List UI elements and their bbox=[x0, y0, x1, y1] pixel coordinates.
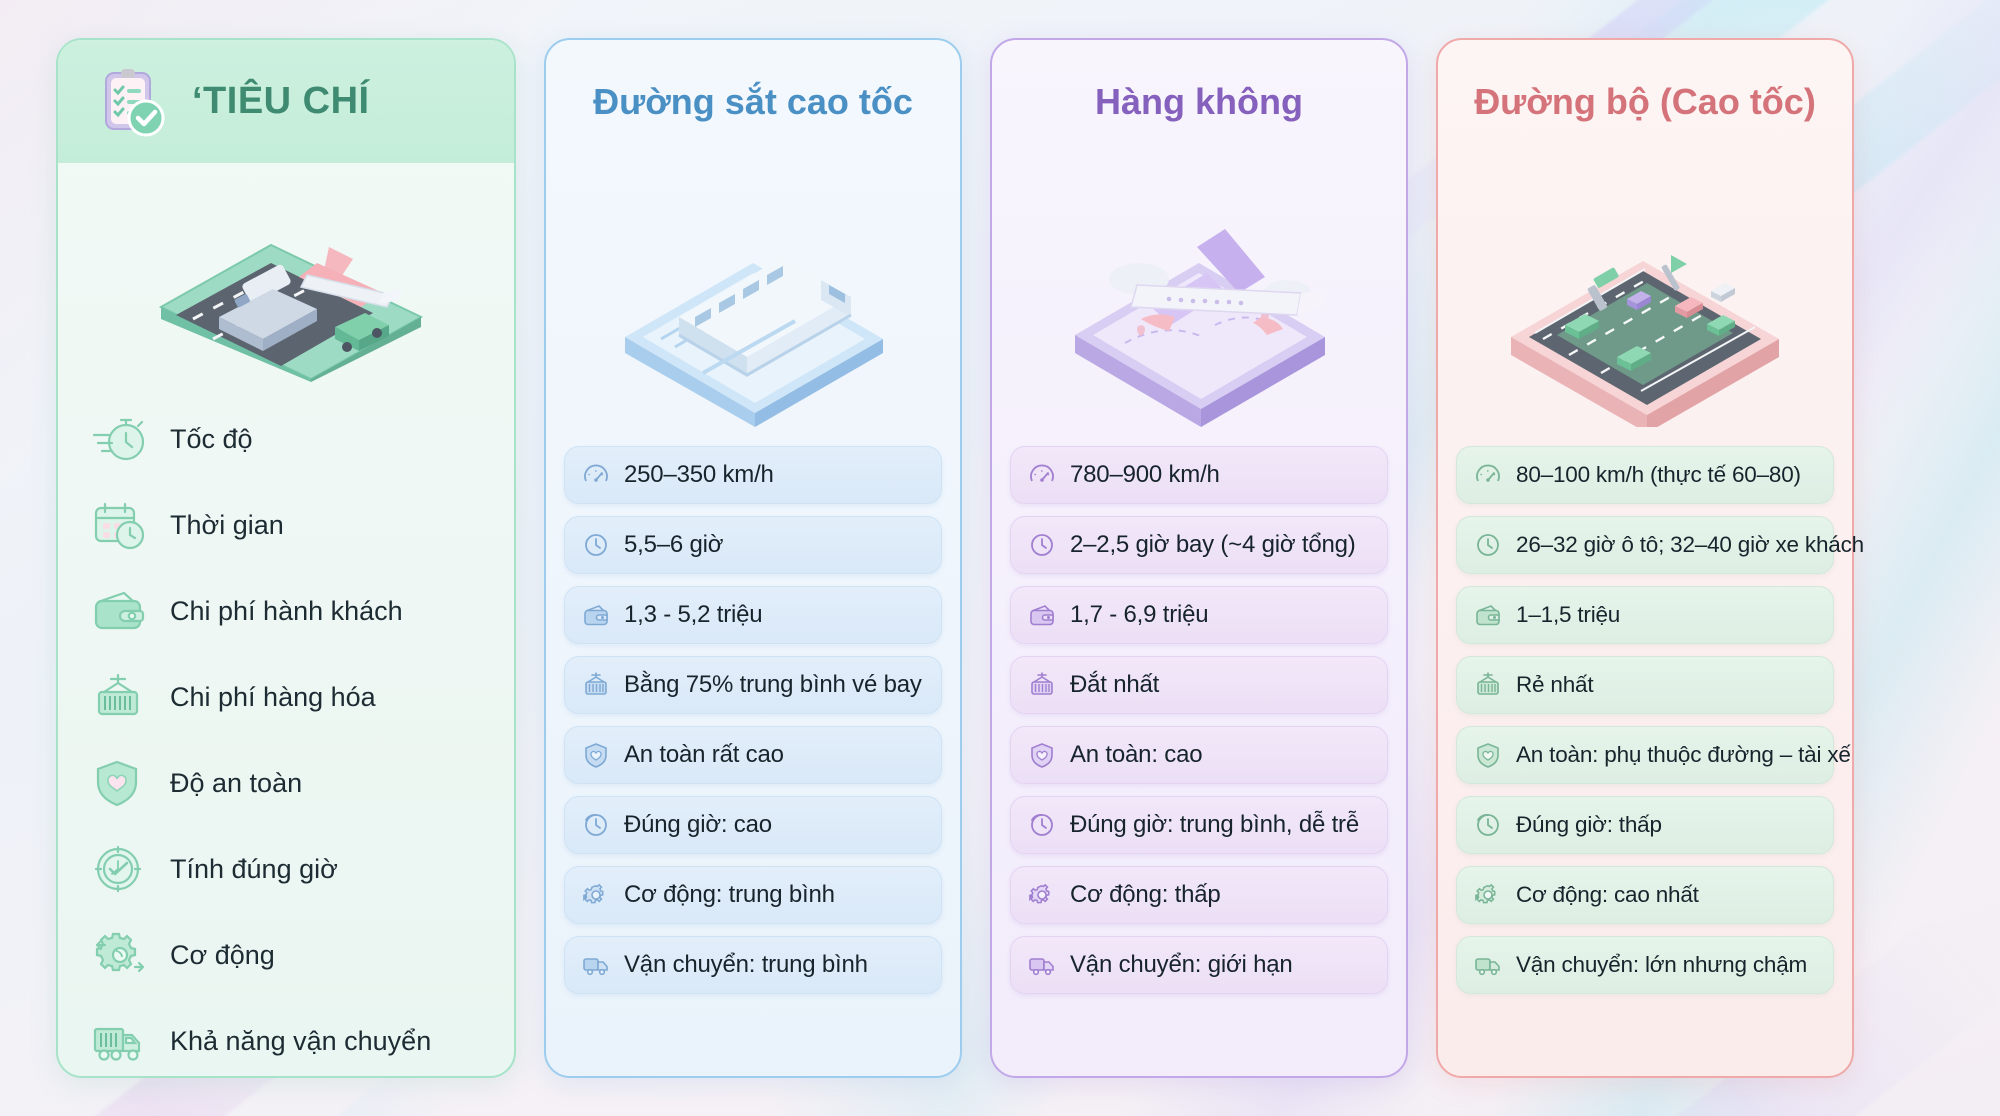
data-row-freight-cost[interactable]: Đắt nhất bbox=[1010, 656, 1388, 714]
data-row-text: An toàn: phụ thuộc đường – tài xế bbox=[1516, 742, 1851, 768]
criteria-item-7[interactable]: Khả năng vận chuyển bbox=[92, 1006, 514, 1076]
data-row-time[interactable]: 5,5–6 giờ bbox=[564, 516, 942, 574]
column-card-air: Hàng không bbox=[990, 38, 1408, 1078]
data-row-text: Đắt nhất bbox=[1070, 671, 1159, 699]
data-row-text: 780–900 km/h bbox=[1070, 461, 1220, 489]
criteria-card: ‘TIÊU CHÍ bbox=[56, 38, 516, 1078]
data-row-capacity[interactable]: Vận chuyển: trung bình bbox=[564, 936, 942, 994]
criteria-hero-illustration bbox=[58, 163, 514, 382]
container-icon bbox=[1027, 670, 1057, 700]
data-list-road: 80–100 km/h (thực tế 60–80) 26–32 giờ ô … bbox=[1438, 442, 1852, 994]
data-row-text: Đúng giờ: cao bbox=[624, 811, 772, 839]
shield-heart-icon bbox=[581, 740, 611, 770]
column-card-road: Đường bộ (Cao tốc) bbox=[1436, 38, 1854, 1078]
data-row-freight-cost[interactable]: Rẻ nhất bbox=[1456, 656, 1834, 714]
clock-icon bbox=[1027, 530, 1057, 560]
data-row-text: 250–350 km/h bbox=[624, 461, 774, 489]
data-row-text: An toàn rất cao bbox=[624, 741, 784, 769]
criteria-item-label: Tốc độ bbox=[170, 424, 253, 455]
clipboard-check-icon bbox=[92, 63, 170, 141]
data-row-text: Rẻ nhất bbox=[1516, 672, 1593, 698]
gear-icon bbox=[1473, 880, 1503, 910]
container-icon bbox=[1473, 670, 1503, 700]
wallet-icon bbox=[1027, 600, 1057, 630]
data-row-text: Cơ động: cao nhất bbox=[1516, 882, 1699, 908]
data-row-speed[interactable]: 80–100 km/h (thực tế 60–80) bbox=[1456, 446, 1834, 504]
clock-check-icon bbox=[581, 810, 611, 840]
column-title-road: Đường bộ (Cao tốc) bbox=[1438, 40, 1852, 152]
wallet-icon bbox=[1473, 600, 1503, 630]
stopwatch-icon bbox=[92, 413, 148, 465]
data-row-mobility[interactable]: Cơ động: cao nhất bbox=[1456, 866, 1834, 924]
criteria-item-5[interactable]: Tính đúng giờ bbox=[92, 834, 514, 904]
data-row-text: Vận chuyển: giới hạn bbox=[1070, 951, 1293, 979]
gear-arrows-icon bbox=[92, 929, 148, 981]
data-row-text: 5,5–6 giờ bbox=[624, 531, 723, 559]
data-row-punctuality[interactable]: Đúng giờ: thấp bbox=[1456, 796, 1834, 854]
data-list-rail: 250–350 km/h 5,5–6 giờ 1,3 - 5,2 triệu B… bbox=[546, 442, 960, 994]
comparison-board: ‘TIÊU CHÍ bbox=[0, 0, 2000, 1116]
criteria-item-6[interactable]: Cơ động bbox=[92, 920, 514, 990]
wallet-icon bbox=[581, 600, 611, 630]
truck-icon bbox=[581, 950, 611, 980]
data-row-text: Cơ động: thấp bbox=[1070, 881, 1221, 909]
shield-heart-icon bbox=[1473, 740, 1503, 770]
data-row-safety[interactable]: An toàn rất cao bbox=[564, 726, 942, 784]
data-row-text: 1–1,5 triệu bbox=[1516, 602, 1620, 628]
criteria-item-label: Chi phí hành khách bbox=[170, 596, 403, 627]
data-row-punctuality[interactable]: Đúng giờ: cao bbox=[564, 796, 942, 854]
shield-heart-icon bbox=[1027, 740, 1057, 770]
data-row-text: Bằng 75% trung bình vé bay bbox=[624, 671, 922, 699]
data-row-text: Đúng giờ: trung bình, dễ trễ bbox=[1070, 811, 1359, 839]
highway-illustration bbox=[1438, 152, 1852, 442]
data-list-air: 780–900 km/h 2–2,5 giờ bay (~4 giờ tổng)… bbox=[992, 442, 1406, 994]
clock-check-icon bbox=[92, 843, 148, 895]
data-row-text: 26–32 giờ ô tô; 32–40 giờ xe khách bbox=[1516, 532, 1864, 558]
criteria-item-0[interactable]: Tốc độ bbox=[92, 404, 514, 474]
data-row-speed[interactable]: 780–900 km/h bbox=[1010, 446, 1388, 504]
data-row-safety[interactable]: An toàn: phụ thuộc đường – tài xế bbox=[1456, 726, 1834, 784]
criteria-item-label: Độ an toàn bbox=[170, 768, 302, 799]
data-row-text: Đúng giờ: thấp bbox=[1516, 812, 1662, 838]
data-row-text: Vận chuyển: trung bình bbox=[624, 951, 868, 979]
truck-icon bbox=[92, 1015, 148, 1067]
data-row-passenger-cost[interactable]: 1,3 - 5,2 triệu bbox=[564, 586, 942, 644]
column-title-air: Hàng không bbox=[992, 40, 1406, 152]
column-card-rail: Đường sắt cao tốc bbox=[544, 38, 962, 1078]
speedometer-icon bbox=[581, 460, 611, 490]
data-row-safety[interactable]: An toàn: cao bbox=[1010, 726, 1388, 784]
container-icon bbox=[92, 671, 148, 723]
criteria-item-label: Cơ động bbox=[170, 940, 275, 971]
data-row-mobility[interactable]: Cơ động: trung bình bbox=[564, 866, 942, 924]
criteria-title: ‘TIÊU CHÍ bbox=[192, 80, 370, 123]
high-speed-train-illustration bbox=[546, 152, 960, 442]
airplane-illustration bbox=[992, 152, 1406, 442]
data-row-capacity[interactable]: Vận chuyển: lớn nhưng chậm bbox=[1456, 936, 1834, 994]
data-row-punctuality[interactable]: Đúng giờ: trung bình, dễ trễ bbox=[1010, 796, 1388, 854]
gear-icon bbox=[581, 880, 611, 910]
criteria-item-2[interactable]: Chi phí hành khách bbox=[92, 576, 514, 646]
data-row-text: Vận chuyển: lớn nhưng chậm bbox=[1516, 952, 1807, 978]
column-title-rail: Đường sắt cao tốc bbox=[546, 40, 960, 152]
data-row-mobility[interactable]: Cơ động: thấp bbox=[1010, 866, 1388, 924]
truck-icon bbox=[1473, 950, 1503, 980]
wallet-icon bbox=[92, 585, 148, 637]
speedometer-icon bbox=[1473, 460, 1503, 490]
criteria-list: Tốc độ Thời gian bbox=[58, 382, 514, 1076]
clock-icon bbox=[1473, 530, 1503, 560]
criteria-header: ‘TIÊU CHÍ bbox=[58, 40, 514, 163]
criteria-item-label: Tính đúng giờ bbox=[170, 854, 338, 885]
data-row-passenger-cost[interactable]: 1–1,5 triệu bbox=[1456, 586, 1834, 644]
criteria-item-label: Khả năng vận chuyển bbox=[170, 1026, 431, 1057]
data-row-freight-cost[interactable]: Bằng 75% trung bình vé bay bbox=[564, 656, 942, 714]
criteria-item-1[interactable]: Thời gian bbox=[92, 490, 514, 560]
criteria-item-3[interactable]: Chi phí hàng hóa bbox=[92, 662, 514, 732]
truck-icon bbox=[1027, 950, 1057, 980]
calendar-clock-icon bbox=[92, 499, 148, 551]
clock-icon bbox=[581, 530, 611, 560]
criteria-item-label: Thời gian bbox=[170, 510, 284, 541]
shield-heart-icon bbox=[92, 757, 148, 809]
data-row-speed[interactable]: 250–350 km/h bbox=[564, 446, 942, 504]
clock-check-icon bbox=[1473, 810, 1503, 840]
data-row-time[interactable]: 26–32 giờ ô tô; 32–40 giờ xe khách bbox=[1456, 516, 1834, 574]
data-row-text: 1,3 - 5,2 triệu bbox=[624, 601, 762, 629]
clock-check-icon bbox=[1027, 810, 1057, 840]
data-row-text: 1,7 - 6,9 triệu bbox=[1070, 601, 1208, 629]
criteria-item-label: Chi phí hàng hóa bbox=[170, 682, 376, 713]
speedometer-icon bbox=[1027, 460, 1057, 490]
data-row-capacity[interactable]: Vận chuyển: giới hạn bbox=[1010, 936, 1388, 994]
data-row-text: 80–100 km/h (thực tế 60–80) bbox=[1516, 462, 1801, 488]
data-row-passenger-cost[interactable]: 1,7 - 6,9 triệu bbox=[1010, 586, 1388, 644]
container-icon bbox=[581, 670, 611, 700]
gear-icon bbox=[1027, 880, 1057, 910]
data-row-text: An toàn: cao bbox=[1070, 741, 1202, 769]
data-row-text: 2–2,5 giờ bay (~4 giờ tổng) bbox=[1070, 531, 1356, 559]
data-row-text: Cơ động: trung bình bbox=[624, 881, 835, 909]
data-row-time[interactable]: 2–2,5 giờ bay (~4 giờ tổng) bbox=[1010, 516, 1388, 574]
criteria-item-4[interactable]: Độ an toàn bbox=[92, 748, 514, 818]
